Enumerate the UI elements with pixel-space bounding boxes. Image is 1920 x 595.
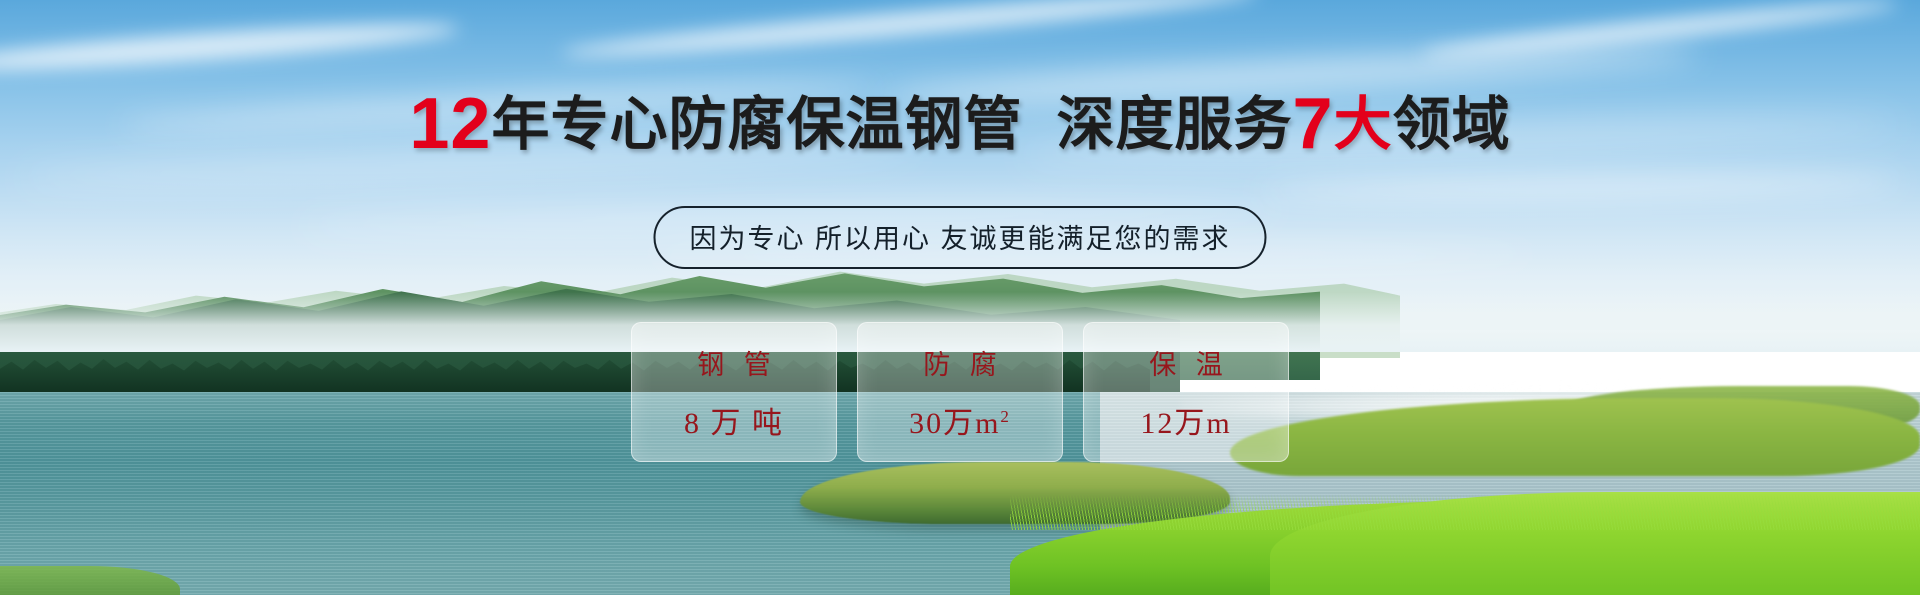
headline-text-primary: 年专心防腐保温钢管 xyxy=(491,92,1022,157)
headline-text-secondary: 深度服务 xyxy=(1057,92,1293,157)
stat-card-steel-pipe[interactable]: 钢 管 8 万 吨 xyxy=(631,322,837,462)
promo-banner: 12年专心防腐保温钢管深度服务7大领域 因为专心 所以用心 友诚更能满足您的需求… xyxy=(0,0,1920,595)
stat-card-value-text: 8 万 吨 xyxy=(684,407,784,440)
stat-card-value-text: 30万m xyxy=(909,407,1000,440)
stat-card-group: 钢 管 8 万 吨 防 腐 30万m2 保 温 12万m xyxy=(631,322,1289,462)
stat-card-value-text: 12万m xyxy=(1140,407,1231,440)
stat-card-value: 30万m2 xyxy=(909,398,1011,442)
headline-years-number: 12 xyxy=(409,84,491,164)
stat-card-value: 12万m xyxy=(1140,398,1231,442)
banner-subtitle-pill: 因为专心 所以用心 友诚更能满足您的需求 xyxy=(653,206,1266,269)
headline-text-tertiary: 领域 xyxy=(1393,92,1511,157)
headline-fields-number: 7 xyxy=(1293,84,1334,164)
headline-measure-word: 大 xyxy=(1334,92,1393,157)
banner-headline: 12年专心防腐保温钢管深度服务7大领域 xyxy=(0,88,1920,160)
grass-blade-texture xyxy=(1010,494,1920,530)
stat-card-title: 保 温 xyxy=(1143,343,1229,382)
stat-card-title: 钢 管 xyxy=(691,343,777,382)
stat-card-insulation[interactable]: 保 温 12万m xyxy=(1083,322,1289,462)
stat-card-anticorrosion[interactable]: 防 腐 30万m2 xyxy=(857,322,1063,462)
stat-card-value: 8 万 吨 xyxy=(684,398,784,442)
stat-card-title: 防 腐 xyxy=(917,343,1003,382)
stat-card-value-superscript: 2 xyxy=(1000,407,1011,426)
